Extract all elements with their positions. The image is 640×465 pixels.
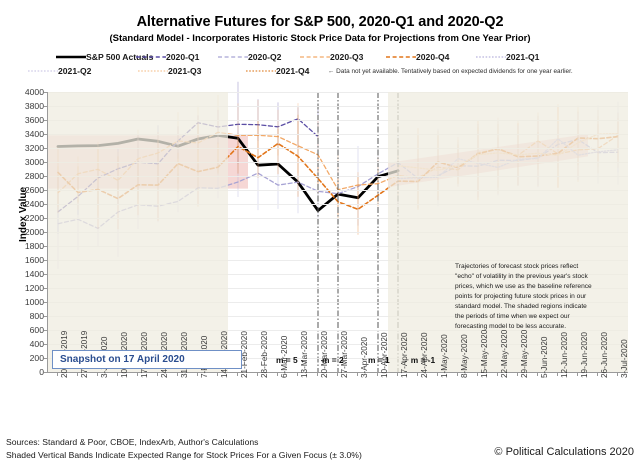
y-tick-label: 2800 — [25, 171, 44, 181]
x-tick-mark — [57, 372, 58, 376]
x-tick-mark — [237, 372, 238, 376]
x-tick-mark — [437, 372, 438, 376]
x-tick-mark — [417, 372, 418, 376]
x-tick-label: 29-May-2020 — [520, 330, 529, 378]
y-tick-label: 3000 — [25, 157, 44, 167]
legend-swatch-2020-q2 — [218, 53, 248, 61]
x-tick-label: 15-May-2020 — [480, 330, 489, 378]
legend-swatch-s-p-500-actuals — [56, 53, 86, 61]
legend-label: 2020-Q1 — [166, 52, 199, 62]
y-tick-label: 3800 — [25, 101, 44, 111]
x-tick-mark — [497, 372, 498, 376]
y-tick-label: 1000 — [25, 297, 44, 307]
legend-swatch-2021-q2 — [28, 67, 58, 75]
x-tick-mark — [597, 372, 598, 376]
legend-swatch-2020-q4 — [386, 53, 416, 61]
legend-label: 2021-Q2 — [58, 66, 91, 76]
x-tick-mark — [317, 372, 318, 376]
x-tick-mark — [257, 372, 258, 376]
legend-item-2020-q4[interactable]: 2020-Q4 — [386, 52, 449, 62]
legend-footnote: ← Data not yet available. Tentatively ba… — [328, 68, 573, 75]
marker-label-4: → m = -1 — [400, 355, 435, 365]
legend-swatch-2021-q3 — [138, 67, 168, 75]
page-title: Alternative Futures for S&P 500, 2020-Q1… — [0, 14, 640, 30]
x-tick-mark — [577, 372, 578, 376]
x-tick-mark — [477, 372, 478, 376]
x-tick-mark — [77, 372, 78, 376]
x-tick-mark — [297, 372, 298, 376]
legend-label: 2020-Q3 — [330, 52, 363, 62]
x-tick-mark — [397, 372, 398, 376]
marker-label-2: m = 2 — [322, 355, 344, 365]
y-tick-label: 4000 — [25, 87, 44, 97]
y-tick-label: 3200 — [25, 143, 44, 153]
marker-labels: m = 5 ←m = 2m = 1→ m = -1 — [0, 355, 640, 369]
x-tick-mark — [157, 372, 158, 376]
x-tick-mark — [357, 372, 358, 376]
x-tick-mark — [537, 372, 538, 376]
x-tick-mark — [557, 372, 558, 376]
legend-item-2020-q2[interactable]: 2020-Q2 — [218, 52, 281, 62]
legend-item-2021-q1[interactable]: 2021-Q1 — [476, 52, 539, 62]
shaded-focus-band — [48, 92, 228, 372]
y-tick-label: 2200 — [25, 213, 44, 223]
footer-sources: Sources: Standard & Poor, CBOE, IndexArb… — [6, 437, 258, 447]
x-tick-mark — [117, 372, 118, 376]
x-tick-mark — [197, 372, 198, 376]
x-tick-mark — [97, 372, 98, 376]
x-tick-mark — [137, 372, 138, 376]
x-tick-mark — [377, 372, 378, 376]
chart-page: Alternative Futures for S&P 500, 2020-Q1… — [0, 0, 640, 465]
legend-item-2021-q3[interactable]: 2021-Q3 — [138, 66, 201, 76]
x-tick-mark — [337, 372, 338, 376]
chart-legend: S&P 500 Actuals2020-Q12020-Q22020-Q32020… — [28, 52, 638, 82]
x-tick-mark — [517, 372, 518, 376]
y-tick-label: 3600 — [25, 115, 44, 125]
y-tick-label: 1200 — [25, 283, 44, 293]
y-tick-label: 1600 — [25, 255, 44, 265]
y-tick-label: 1800 — [25, 241, 44, 251]
x-tick-mark — [217, 372, 218, 376]
legend-swatch-2020-q3 — [300, 53, 330, 61]
legend-swatch-2021-q4 — [246, 67, 276, 75]
legend-row-1: S&P 500 Actuals2020-Q12020-Q22020-Q32020… — [28, 52, 638, 65]
legend-label: 2021-Q4 — [276, 66, 309, 76]
x-tick-mark — [617, 372, 618, 376]
y-tick-label: 600 — [30, 325, 44, 335]
model-explanation-note: Trajectories of forecast stock prices re… — [455, 262, 595, 332]
legend-swatch-2021-q1 — [476, 53, 506, 61]
x-tick-mark — [457, 372, 458, 376]
legend-row-2: 2021-Q22021-Q32021-Q4← Data not yet avai… — [28, 66, 638, 79]
legend-swatch-2020-q1 — [136, 53, 166, 61]
x-tick-mark — [277, 372, 278, 376]
legend-item-2021-q2[interactable]: 2021-Q2 — [28, 66, 91, 76]
y-tick-label: 400 — [30, 339, 44, 349]
x-tick-label: 22-May-2020 — [500, 330, 509, 378]
legend-label: 2020-Q4 — [416, 52, 449, 62]
y-tick-label: 2400 — [25, 199, 44, 209]
page-subtitle: (Standard Model - Incorporates Historic … — [0, 33, 640, 44]
legend-item-2021-q4[interactable]: 2021-Q4 — [246, 66, 309, 76]
y-tick-label: 800 — [30, 311, 44, 321]
marker-label-3: m = 1 — [368, 355, 390, 365]
marker-label-1: m = 5 ← — [276, 355, 308, 365]
x-tick-mark — [177, 372, 178, 376]
y-tick-label: 3400 — [25, 129, 44, 139]
y-tick-label: 2600 — [25, 185, 44, 195]
legend-item-2020-q3[interactable]: 2020-Q3 — [300, 52, 363, 62]
footer-bands-note: Shaded Vertical Bands Indicate Expected … — [6, 450, 362, 460]
legend-label: 2021-Q1 — [506, 52, 539, 62]
legend-label: 2020-Q2 — [248, 52, 281, 62]
legend-label: 2021-Q3 — [168, 66, 201, 76]
footer-copyright: © Political Calculations 2020 — [494, 446, 634, 458]
legend-item-2020-q1[interactable]: 2020-Q1 — [136, 52, 199, 62]
y-tick-label: 1400 — [25, 269, 44, 279]
y-tick-label: 2000 — [25, 227, 44, 237]
